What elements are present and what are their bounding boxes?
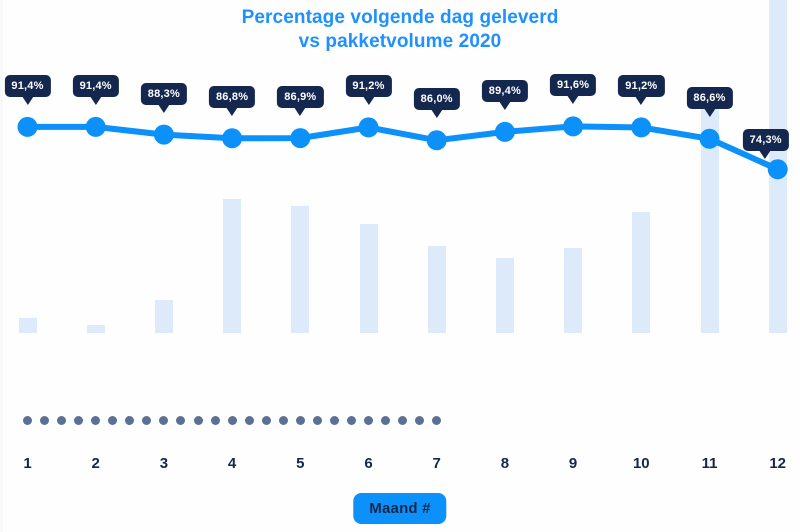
data-label-month-7: 86,0% [414, 88, 460, 110]
x-tick-8: 8 [501, 455, 509, 472]
axis-dot [381, 416, 390, 425]
axis-dot [142, 416, 151, 425]
axis-dot [313, 416, 322, 425]
axis-dot [108, 416, 117, 425]
x-axis-title-badge: Maand # [353, 493, 446, 524]
line-series-percentage [0, 0, 800, 440]
bar-month-11 [701, 97, 719, 333]
x-tick-4: 4 [228, 455, 236, 472]
axis-dot [74, 416, 83, 425]
axis-dot [330, 416, 339, 425]
line-marker-month-10 [631, 117, 651, 137]
axis-dot [211, 416, 220, 425]
x-tick-1: 1 [23, 455, 31, 472]
plot-area: 91,4%91,4%88,3%86,8%86,9%91,2%86,0%89,4%… [0, 0, 800, 440]
x-tick-2: 2 [92, 455, 100, 472]
bar-month-3 [155, 300, 173, 333]
bar-month-8 [496, 258, 514, 333]
bar-month-1 [19, 318, 37, 333]
data-label-month-5: 86,9% [277, 86, 323, 108]
axis-dot [40, 416, 49, 425]
x-tick-7: 7 [433, 455, 441, 472]
data-label-month-3: 88,3% [141, 83, 187, 105]
axis-dot [262, 416, 271, 425]
axis-dot [347, 416, 356, 425]
axis-dot [176, 416, 185, 425]
chart-container: Percentage volgende dag geleverd vs pakk… [0, 0, 800, 532]
data-label-month-4: 86,8% [209, 86, 255, 108]
axis-dot [279, 416, 288, 425]
data-label-month-2: 91,4% [73, 75, 119, 97]
axis-dot [415, 416, 424, 425]
axis-dot [91, 416, 100, 425]
bar-month-5 [291, 206, 309, 333]
data-label-month-8: 89,4% [482, 80, 528, 102]
axis-dot [245, 416, 254, 425]
line-marker-month-2 [86, 117, 106, 137]
x-tick-3: 3 [160, 455, 168, 472]
line-marker-month-1 [18, 117, 38, 137]
axis-dot [23, 416, 32, 425]
line-marker-month-6 [359, 117, 379, 137]
line-marker-month-9 [563, 116, 583, 136]
x-tick-11: 11 [702, 455, 718, 472]
x-tick-9: 9 [569, 455, 577, 472]
axis-dot [125, 416, 134, 425]
data-label-month-9: 91,6% [550, 74, 596, 96]
x-tick-5: 5 [296, 455, 304, 472]
bar-month-6 [360, 224, 378, 333]
axis-dot [398, 416, 407, 425]
axis-dot [296, 416, 305, 425]
x-tick-6: 6 [364, 455, 372, 472]
bar-month-12 [769, 0, 787, 333]
axis-dotted-baseline [0, 414, 800, 428]
bar-month-9 [564, 248, 582, 333]
data-label-month-11: 86,6% [686, 87, 732, 109]
axis-dot [432, 416, 441, 425]
bar-month-10 [632, 212, 650, 333]
line-marker-month-8 [495, 122, 515, 142]
axis-dot [364, 416, 373, 425]
data-label-month-6: 91,2% [345, 75, 391, 97]
axis-dot [194, 416, 203, 425]
bar-month-4 [223, 199, 241, 333]
line-marker-month-5 [290, 128, 310, 148]
bar-month-2 [87, 325, 105, 333]
data-label-month-12: 74,3% [743, 129, 789, 151]
line-marker-month-7 [427, 130, 447, 150]
x-tick-10: 10 [633, 455, 650, 472]
axis-dot [228, 416, 237, 425]
data-label-month-1: 91,4% [4, 75, 50, 97]
line-marker-month-4 [222, 128, 242, 148]
line-marker-month-3 [154, 125, 174, 145]
x-tick-12: 12 [769, 455, 786, 472]
bar-month-7 [428, 246, 446, 333]
axis-dot [159, 416, 168, 425]
axis-dot [57, 416, 66, 425]
data-label-month-10: 91,2% [618, 75, 664, 97]
